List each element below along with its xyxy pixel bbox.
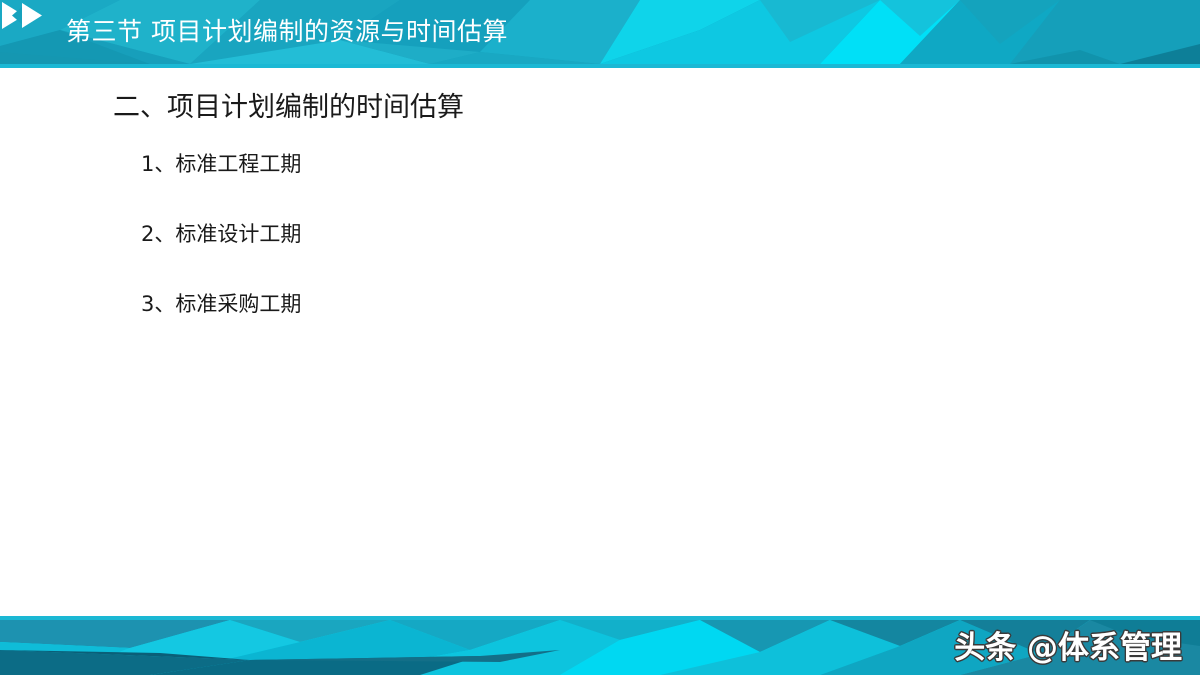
slide-content: 二、项目计划编制的时间估算 1、标准工程工期 2、标准设计工期 3、标准采购工期: [0, 68, 1200, 617]
slide-header-banner: 第三节 项目计划编制的资源与时间估算: [0, 0, 1200, 64]
watermark-text: 头条 @体系管理: [954, 622, 1182, 667]
list-item: 2、标准设计工期: [141, 218, 301, 248]
header-title: 第三节 项目计划编制的资源与时间估算: [66, 13, 508, 51]
presentation-slide: 第三节 项目计划编制的资源与时间估算 二、项目计划编制的时间估算 1、标准工程工…: [0, 0, 1200, 675]
list-item: 1、标准工程工期: [141, 148, 301, 178]
content-list: 1、标准工程工期 2、标准设计工期 3、标准采购工期: [141, 148, 301, 318]
list-item: 3、标准采购工期: [141, 288, 301, 318]
play-triangle-icon: [0, 0, 44, 31]
section-heading: 二、项目计划编制的时间估算: [113, 85, 464, 124]
